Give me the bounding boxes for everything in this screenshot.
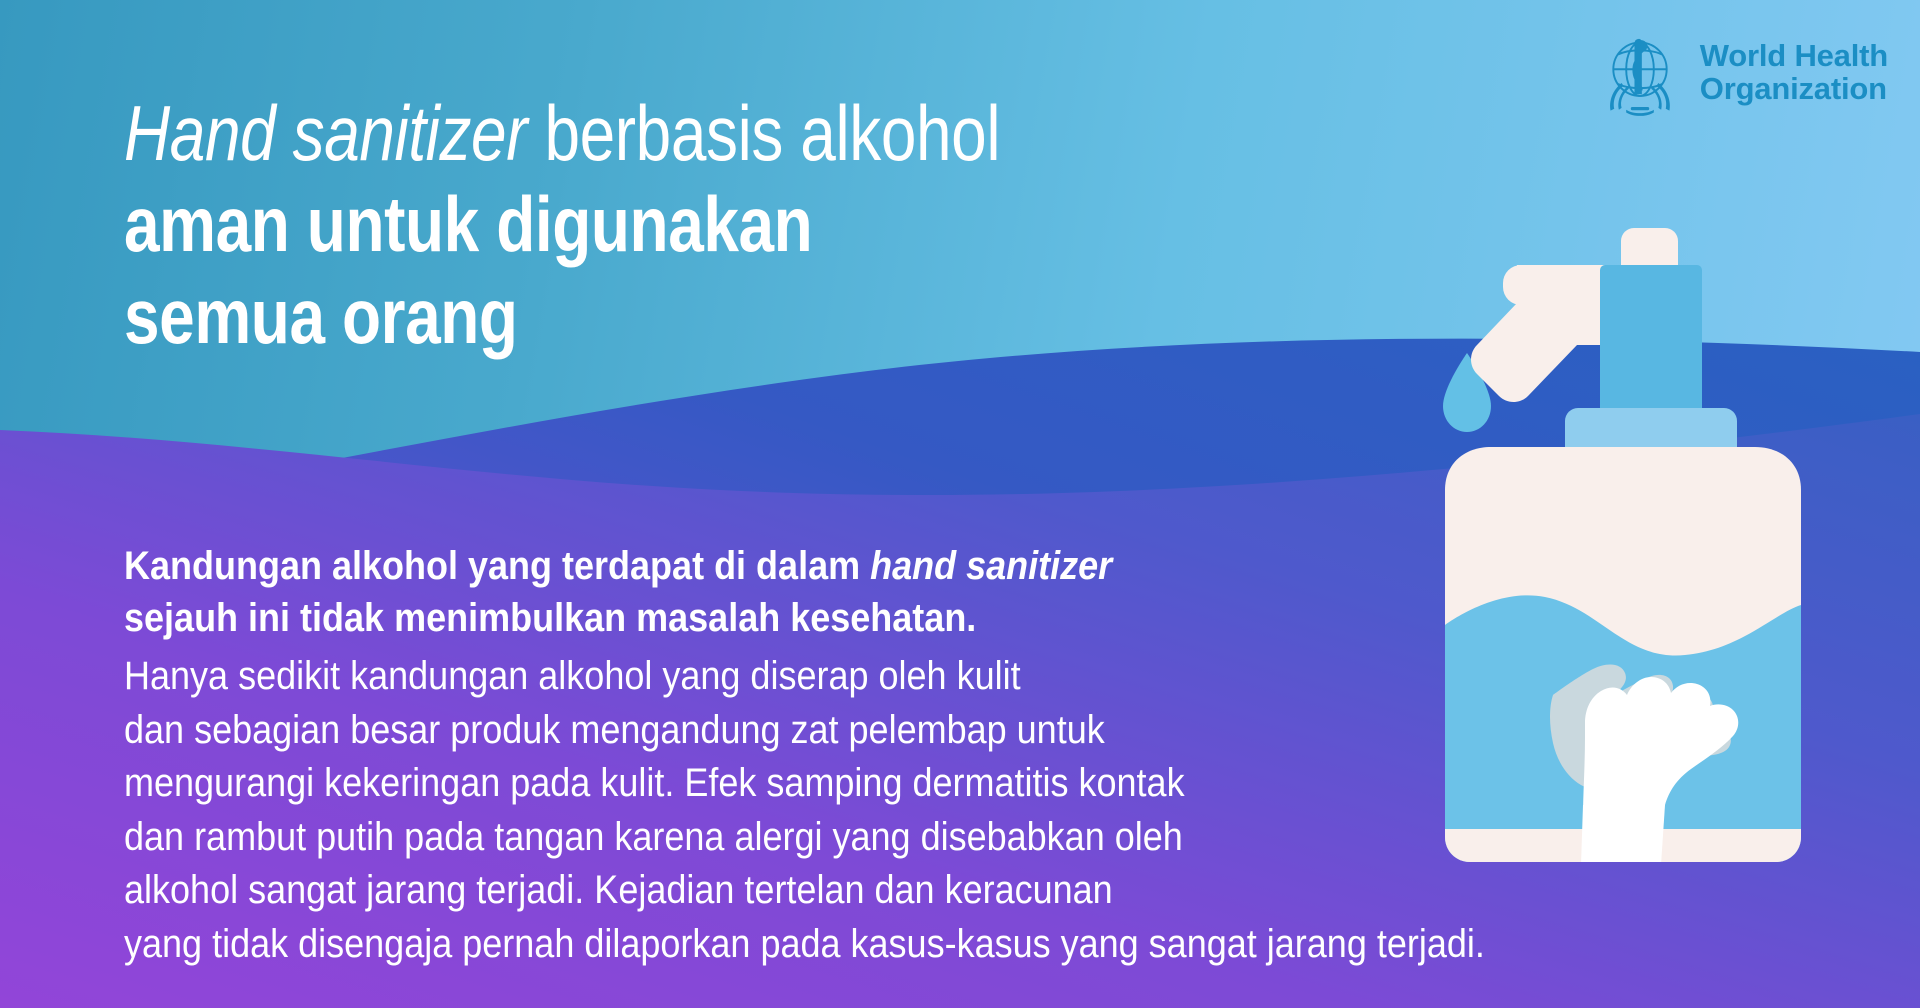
body-lead-line-1-plain: Kandungan alkohol yang terdapat di dalam [124,544,870,588]
who-wordmark: World Health Organization [1700,39,1888,106]
who-emblem-icon [1594,26,1686,118]
poster-root: World Health Organization Hand sanitizer… [0,0,1920,1008]
hand-front-cuff [1581,805,1665,865]
body-lead-emphasis-hand-sanitizer: hand sanitizer [870,544,1112,588]
who-wordmark-line2: Organization [1700,72,1888,105]
who-logo: World Health Organization [1594,26,1888,118]
headline-emphasis-hand-sanitizer: Hand sanitizer [124,89,527,177]
who-wordmark-line1: World Health [1700,39,1888,72]
body-paragraph-line: alkohol sangat jarang terjadi. Kejadian … [124,864,1672,918]
headline-line-1: Hand sanitizer berbasis alkohol [124,88,1272,179]
body-paragraph-line: yang tidak disengaja pernah dilaporkan p… [124,918,1672,972]
headline-line-1-rest: berbasis alkohol [527,89,1000,177]
headline-line-3: semua orang [124,271,1272,362]
headline-block: Hand sanitizer berbasis alkohol aman unt… [124,88,1524,362]
pump-stem [1600,265,1702,417]
hand-sanitizer-bottle-illustration [1425,225,1920,870]
headline-line-2: aman untuk digunakan [124,179,1272,270]
